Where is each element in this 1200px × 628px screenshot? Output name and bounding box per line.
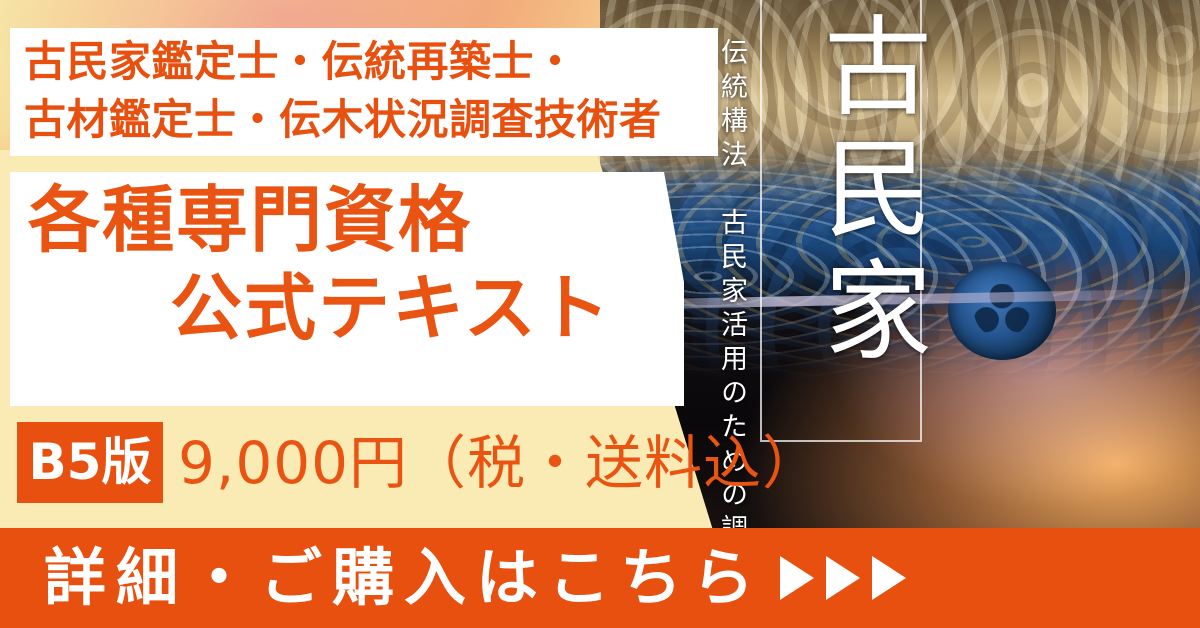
family-crest-medallion <box>948 262 1056 360</box>
credentials-panel: 古民家鑑定士・伝統再築士・ 古材鑑定士・伝木状況調査技術者 <box>10 28 718 156</box>
headline-line-1: 各種専門資格 <box>10 172 710 268</box>
credentials-line-2: 古材鑑定士・伝木状況調査技術者 <box>10 91 718 149</box>
cta-label: 詳細・ご購入はこちら <box>0 528 764 628</box>
promo-banner: 古民家 伝統構法 古民家活用のための調査と再生の 古民家鑑定士・伝統再築士・ 古… <box>0 0 1200 628</box>
book-cover-title: 古民家 <box>790 10 946 376</box>
play-arrow-icon <box>826 556 860 600</box>
format-badge-label: B5版 <box>17 422 163 503</box>
format-badge: B5版 <box>17 422 163 503</box>
headline-line-2: 公式テキスト <box>10 260 710 356</box>
headline-panel: 各種専門資格 公式テキスト <box>10 172 710 406</box>
cta-arrows <box>780 556 906 600</box>
play-arrow-icon <box>872 556 906 600</box>
price-text: 9,000円（税・送料込） <box>178 424 821 502</box>
credentials-line-1: 古民家鑑定士・伝統再築士・ <box>10 28 718 91</box>
play-arrow-icon <box>780 556 814 600</box>
cta-bar[interactable]: 詳細・ご購入はこちら <box>0 528 1200 628</box>
